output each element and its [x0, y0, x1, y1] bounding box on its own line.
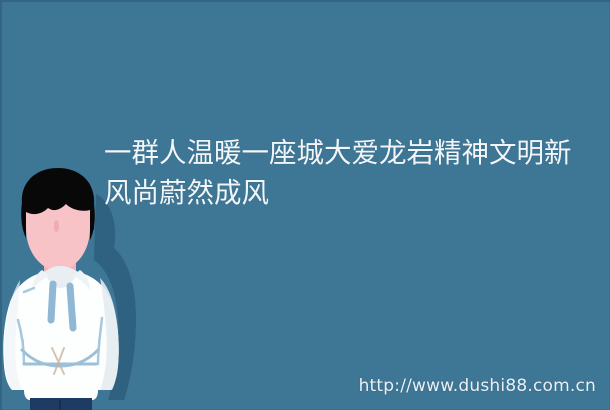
page-title: 一群人温暖一座城大爱龙岩精神文明新风尚蔚然成风 — [104, 133, 590, 213]
nose-mark — [54, 220, 59, 232]
cover-image-canvas: 一群人温暖一座城大爱龙岩精神文明新风尚蔚然成风 http://www.dushi… — [0, 0, 610, 410]
pants — [30, 398, 92, 410]
source-url-watermark: http://www.dushi88.com.cn — [359, 376, 596, 396]
